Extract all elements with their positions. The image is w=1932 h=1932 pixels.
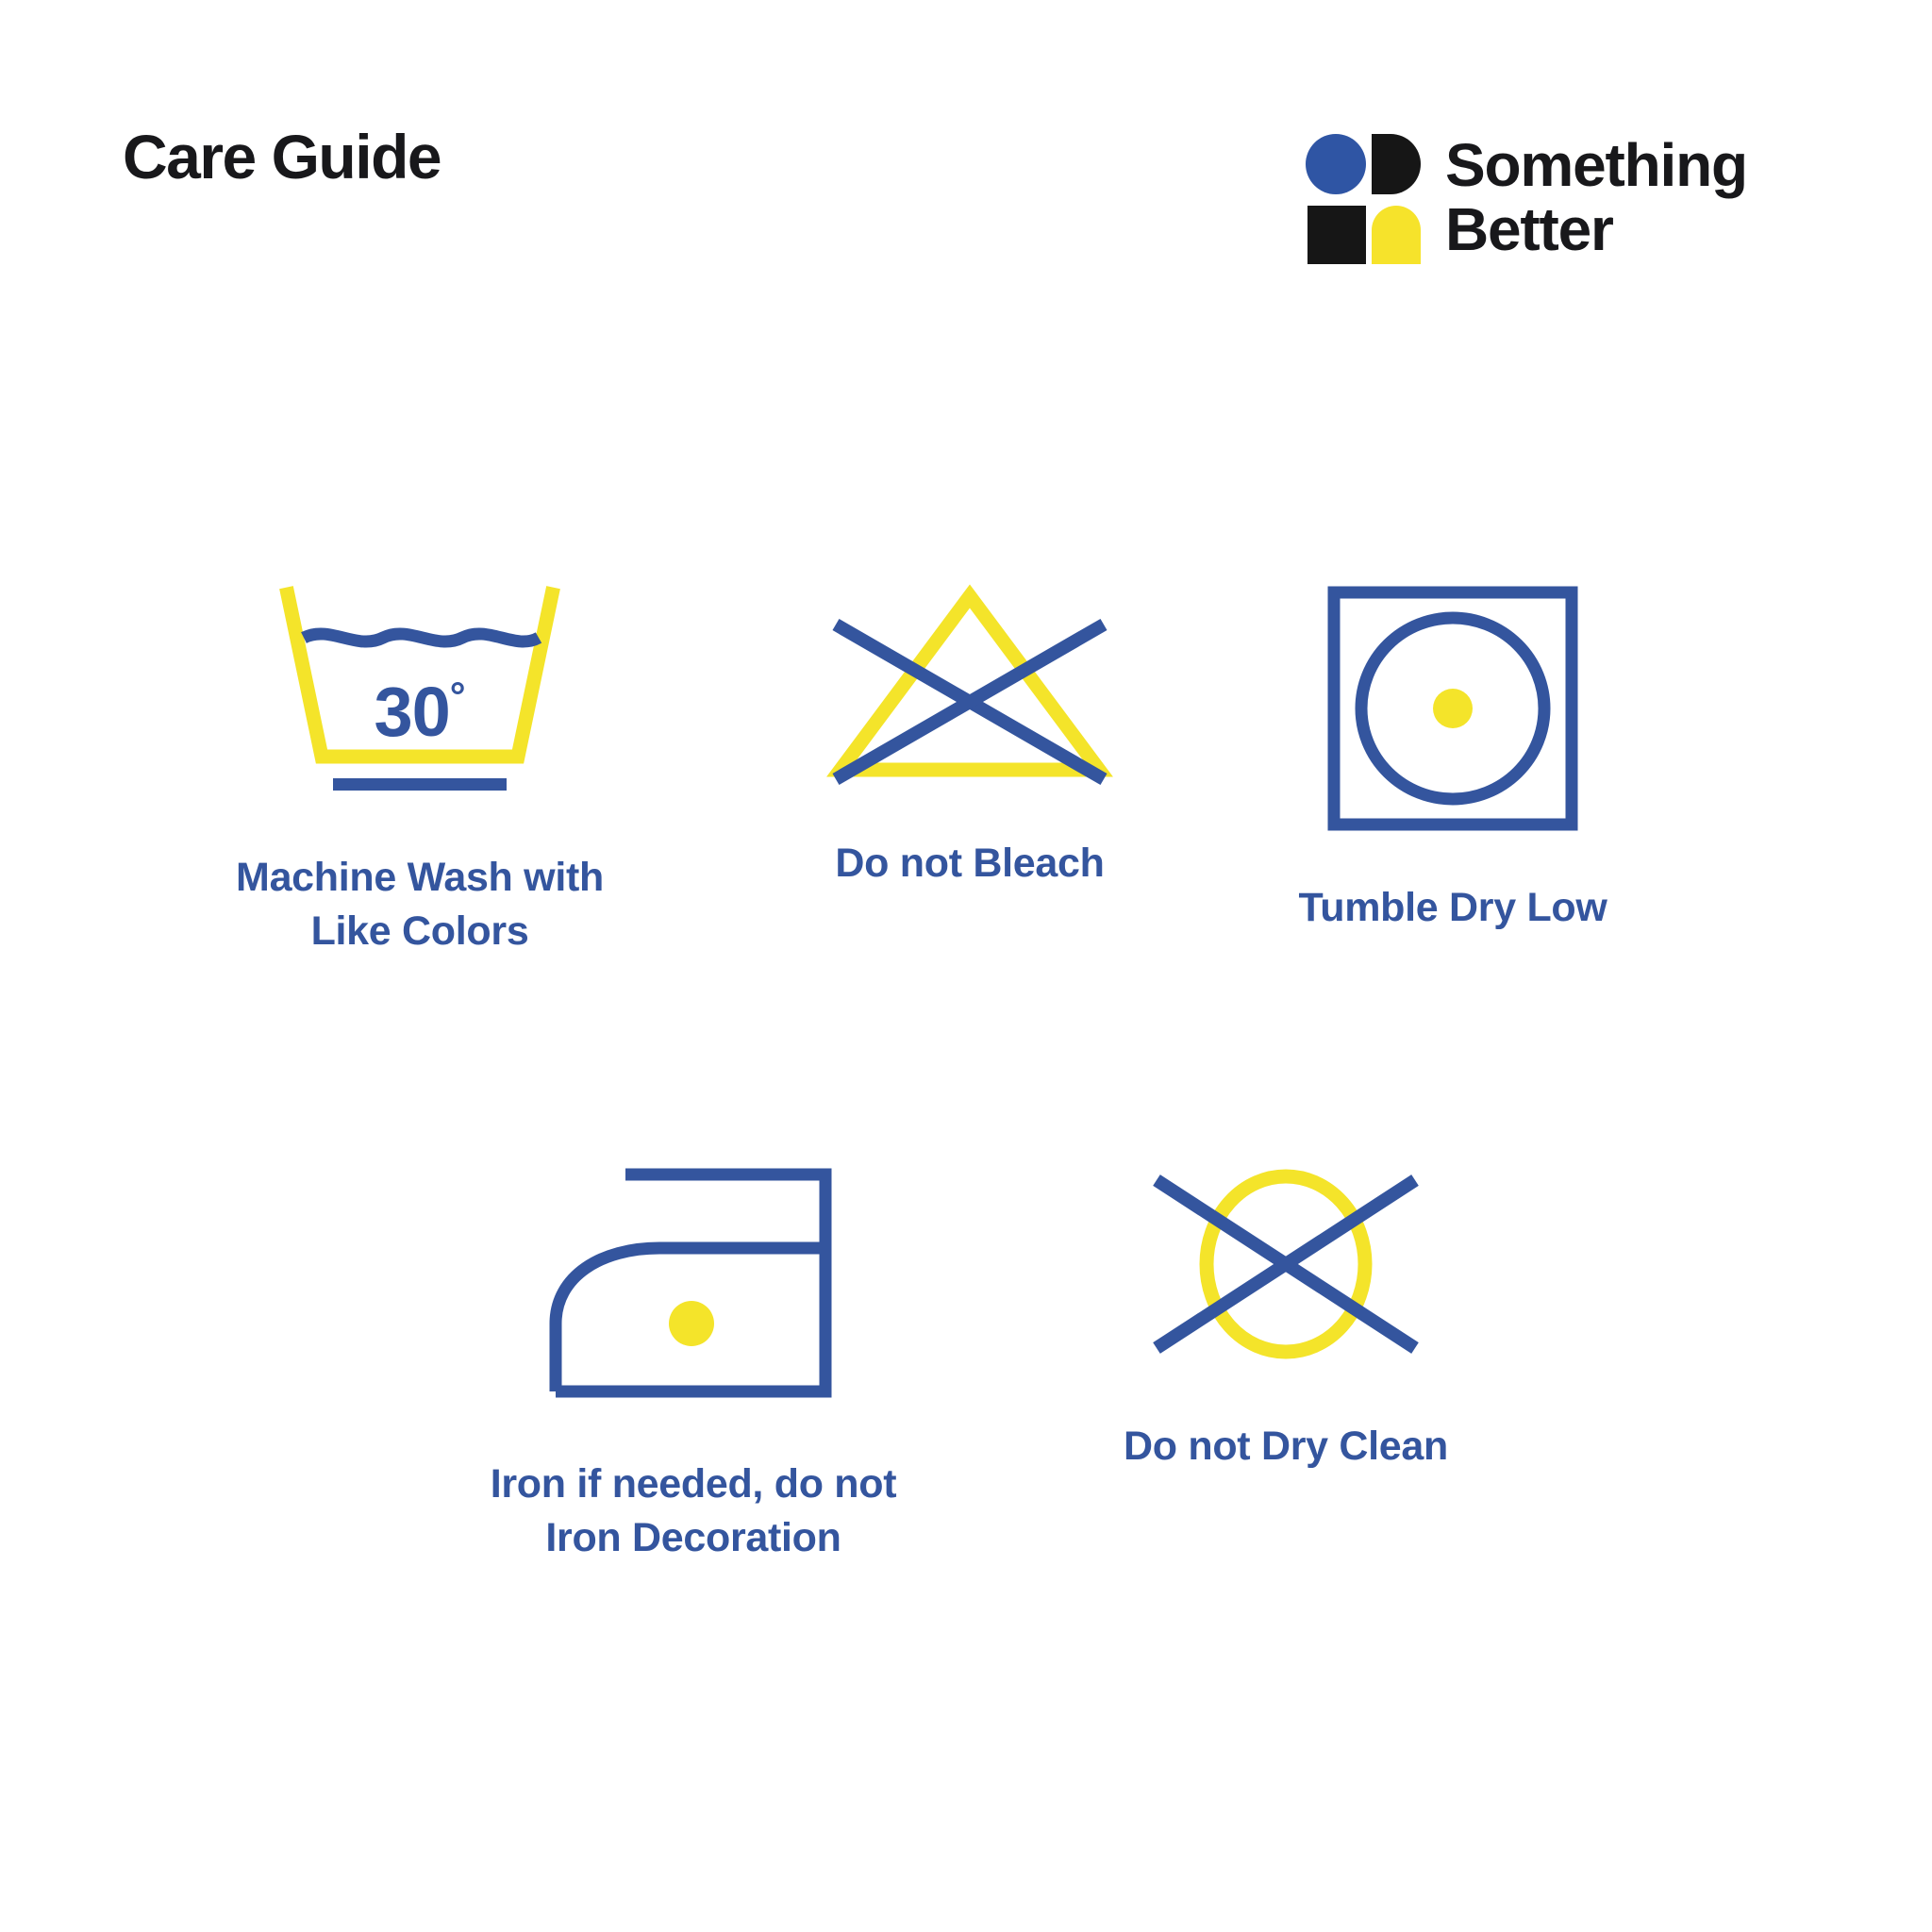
care-symbol-do-not-dry-clean: Do not Dry Clean <box>1083 1165 1489 1474</box>
logo-d-yellow-icon <box>1372 206 1421 264</box>
care-symbol-iron: Iron if needed, do not Iron Decoration <box>443 1165 943 1565</box>
care-symbol-caption: Do not Dry Clean <box>1124 1420 1448 1474</box>
care-symbol-machine-wash: 30° Machine Wash with Like Colors <box>217 585 623 958</box>
care-symbol-tumble-dry-low: Tumble Dry Low <box>1255 585 1651 935</box>
bleach-triangle-crossed-icon <box>828 585 1111 788</box>
brand-logo: Something Better <box>1306 134 1747 266</box>
care-symbol-do-not-bleach: Do not Bleach <box>772 585 1168 891</box>
brand-logo-mark <box>1306 134 1409 266</box>
care-guide-page: Care Guide Something Better 30° <box>0 0 1932 1932</box>
dry-clean-circle-crossed-icon <box>1149 1165 1423 1363</box>
logo-d-black-icon <box>1372 134 1421 194</box>
brand-wordmark-line1: Something <box>1445 134 1747 198</box>
tumble-dry-square-icon <box>1326 585 1579 832</box>
brand-wordmark-line2: Better <box>1445 198 1747 262</box>
degree-symbol: ° <box>450 674 466 718</box>
care-symbol-caption: Iron if needed, do not Iron Decoration <box>491 1457 897 1565</box>
care-symbol-caption: Do not Bleach <box>835 837 1104 891</box>
brand-wordmark: Something Better <box>1445 134 1747 262</box>
logo-circle-blue-icon <box>1306 134 1366 194</box>
iron-icon <box>542 1165 844 1401</box>
logo-square-black-icon <box>1307 206 1366 264</box>
page-title: Care Guide <box>123 123 441 192</box>
wash-basin-icon: 30° <box>259 585 580 802</box>
wash-temperature-label: 30° <box>259 672 580 752</box>
care-symbol-caption: Machine Wash with Like Colors <box>236 851 604 958</box>
care-symbol-caption: Tumble Dry Low <box>1298 881 1607 935</box>
